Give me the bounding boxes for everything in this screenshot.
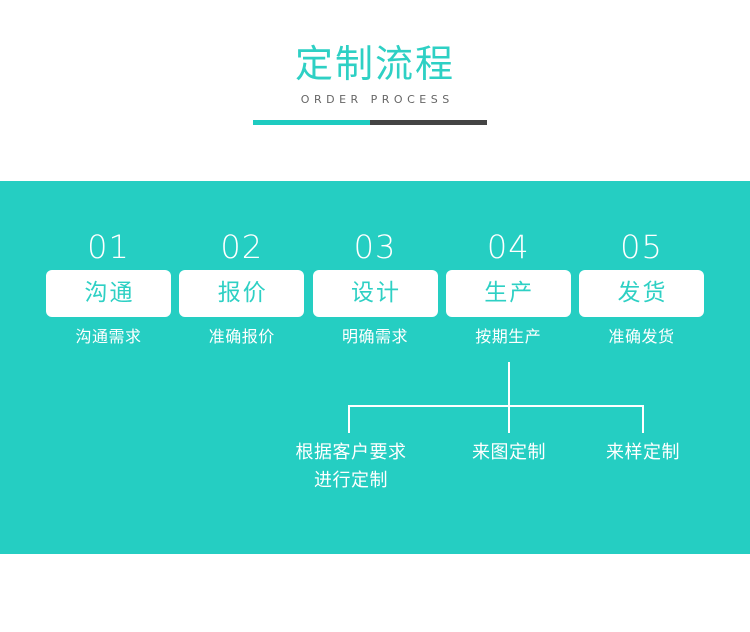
page-header: 定制流程 ORDER PROCESS [0,0,750,181]
connector-drop-left-icon [348,405,350,433]
connector-stem-icon [508,362,510,406]
branch-caption-1-line2: 进行定制 [231,467,471,495]
step-card[interactable]: 设计 [313,270,438,317]
connector-drop-right-icon [642,405,644,433]
step-card[interactable]: 生产 [446,270,571,317]
step-card-label: 设计 [349,282,401,305]
step-description: 明确需求 [342,327,408,347]
branch-caption-2-line1: 来图定制 [472,442,546,463]
step-card-label: 生产 [482,282,534,305]
step-card-label: 发货 [616,282,668,305]
step-number: 03 [354,228,397,270]
step-card-label: 报价 [216,282,268,305]
branch-caption-3: 来样定制 [563,439,723,467]
step-card[interactable]: 发货 [579,270,704,317]
connector-rail-icon [348,405,644,407]
step-description: 准确报价 [209,327,275,347]
branch-caption-3-line1: 来样定制 [606,442,680,463]
page-subtitle: ORDER PROCESS [0,92,750,108]
step-number: 04 [487,228,530,270]
step-number: 05 [620,228,663,270]
branch-caption-1-line1: 根据客户要求 [296,442,407,463]
step-description: 准确发货 [608,327,674,347]
process-step-03: 03 设计 明确需求 [313,228,438,347]
page-footer-space [0,554,750,632]
process-step-02: 02 报价 准确报价 [179,228,304,347]
process-step-05: 05 发货 准确发货 [579,228,704,347]
step-description: 沟通需求 [75,327,141,347]
step-card[interactable]: 沟通 [46,270,171,317]
process-panel: 01 沟通 沟通需求 02 报价 准确报价 03 设计 明确需求 04 生产 [0,181,750,554]
step-description: 按期生产 [475,327,541,347]
step-number: 01 [87,228,130,270]
step-card[interactable]: 报价 [179,270,304,317]
process-steps: 01 沟通 沟通需求 02 报价 准确报价 03 设计 明确需求 04 生产 [46,228,704,347]
step-number: 02 [220,228,263,270]
connector-drop-middle-icon [508,405,510,433]
process-step-04: 04 生产 按期生产 [446,228,571,347]
title-underline-accent [253,120,370,125]
process-step-01: 01 沟通 沟通需求 [46,228,171,347]
title-underline-secondary [370,120,487,125]
page-title: 定制流程 [0,40,750,88]
step-card-label: 沟通 [83,282,135,305]
